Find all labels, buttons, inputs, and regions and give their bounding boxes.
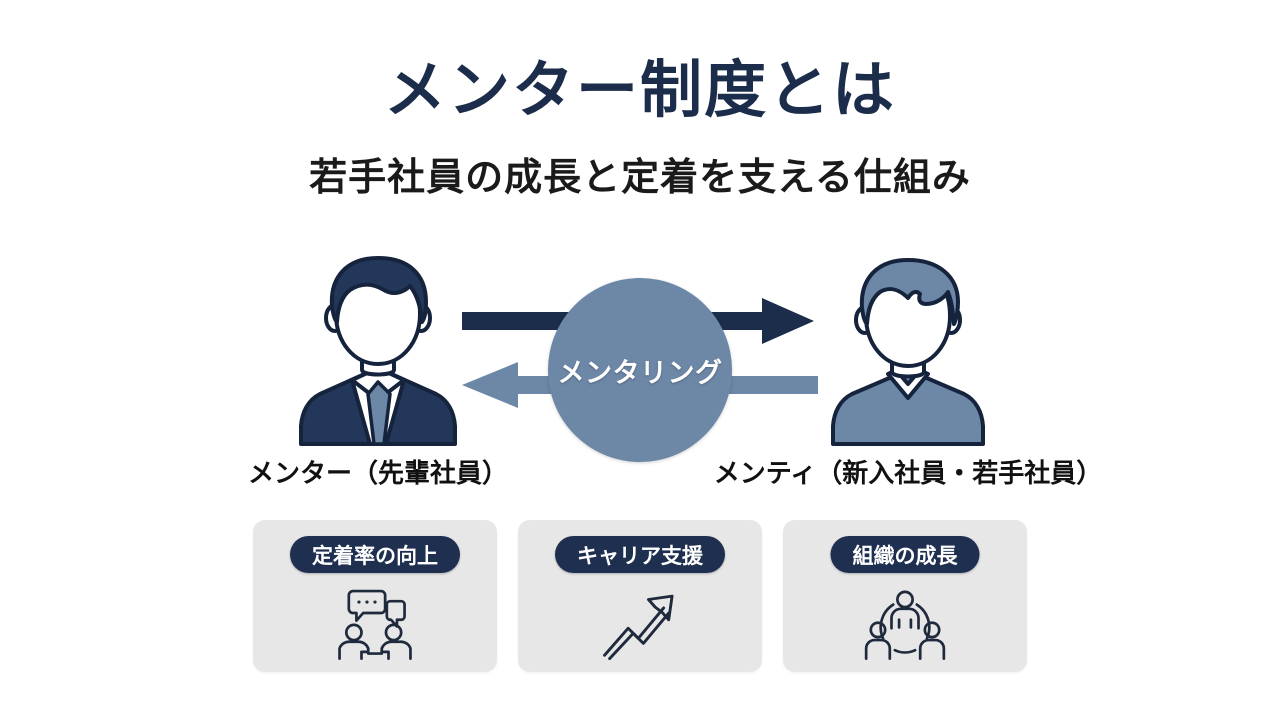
benefit-badge-retention: 定着率の向上 xyxy=(290,536,460,573)
mentor-avatar xyxy=(278,248,478,448)
upward-trend-arrow-glyph xyxy=(597,586,683,662)
chat-bubbles-people-glyph xyxy=(332,586,418,662)
benefit-badge-org-growth: 組織の成長 xyxy=(831,536,980,573)
mentor-label: メンター（先輩社員） xyxy=(158,453,598,490)
benefit-card-org-growth[interactable]: 組織の成長 xyxy=(783,520,1027,672)
two-people-chat-icon xyxy=(332,586,418,662)
page-title: メンター制度とは xyxy=(0,58,1280,123)
three-people-circle-glyph xyxy=(862,586,948,662)
mentee-avatar xyxy=(808,248,1008,448)
mentee-label: メンティ（新入社員・若手社員） xyxy=(688,453,1128,490)
benefit-card-list: 定着率の向上 キャリア支援 xyxy=(253,520,1027,672)
team-group-circle-icon xyxy=(862,586,948,662)
young-person-shirt-icon xyxy=(808,248,1008,448)
mentoring-circle: メンタリング xyxy=(548,278,732,462)
benefit-card-career-support[interactable]: キャリア支援 xyxy=(518,520,762,672)
growth-arrow-up-icon xyxy=(597,586,683,662)
benefit-badge-career-support: キャリア支援 xyxy=(555,536,725,573)
business-person-suit-icon xyxy=(278,248,478,448)
mentoring-circle-label: メンタリング xyxy=(558,351,723,390)
page-subtitle: 若手社員の成長と定着を支える仕組み xyxy=(0,158,1280,200)
mentoring-diagram: メンタリング メンター（先輩社員） メンティ（新入社員・若手社員） xyxy=(0,240,1280,490)
benefit-card-retention[interactable]: 定着率の向上 xyxy=(253,520,497,672)
